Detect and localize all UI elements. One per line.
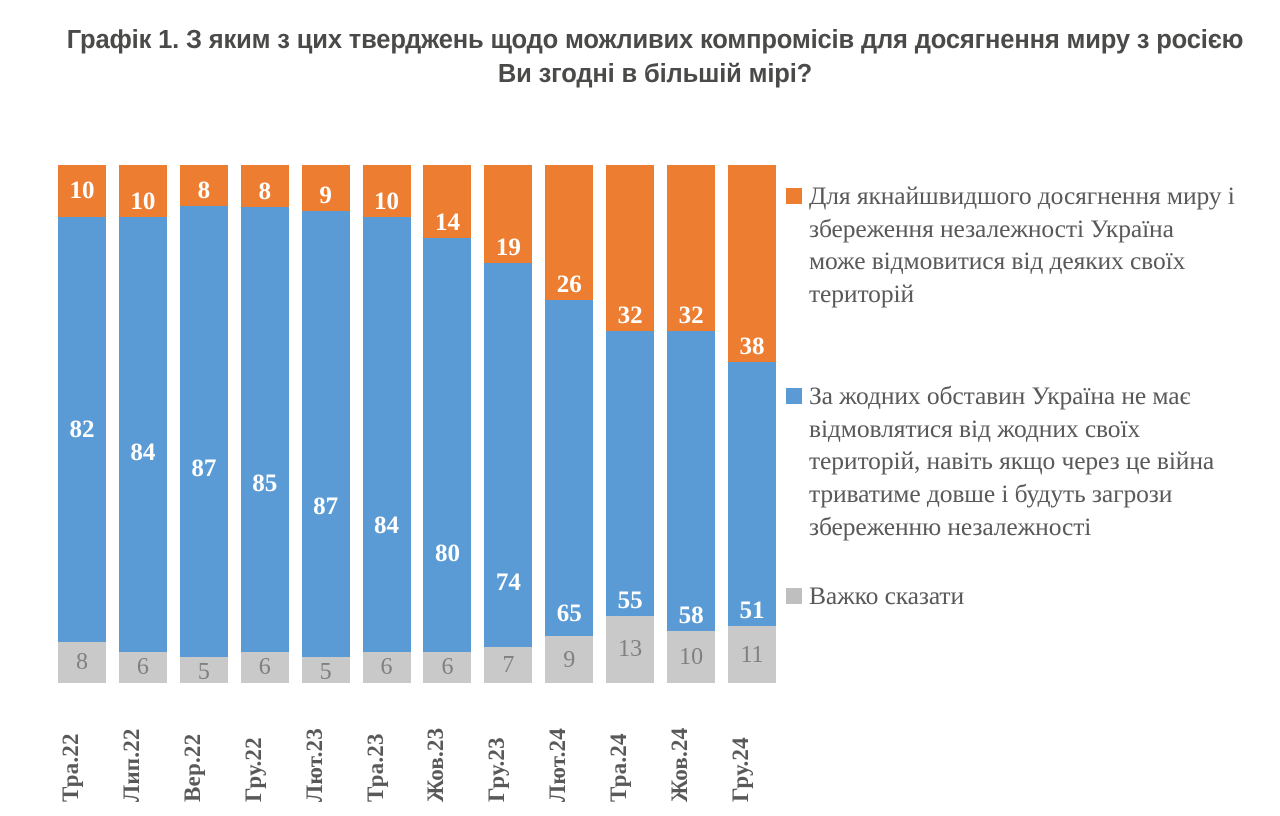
bar-segment-value: 82 — [58, 417, 106, 442]
bar-segment-grey[interactable]: 7 — [484, 647, 532, 683]
bar-segment-blue[interactable]: 87 — [302, 211, 350, 657]
bar-segment-value: 8 — [58, 650, 106, 674]
bar-segment-value: 74 — [484, 570, 532, 595]
bar-segment-grey[interactable]: 6 — [119, 652, 167, 683]
bar-segment-value: 51 — [728, 598, 776, 623]
x-axis-label: Тра.22 — [58, 692, 106, 802]
bar-segment-orange[interactable]: 19 — [484, 165, 532, 263]
bar-segment-orange[interactable]: 32 — [667, 165, 715, 331]
legend-item-blue[interactable]: За жодних обставин Україна не має відмов… — [786, 380, 1236, 543]
legend-item-orange[interactable]: Для якнайшвидшого досягнення миру і збер… — [786, 180, 1236, 311]
bar-column[interactable]: 10846 — [119, 165, 167, 683]
bar-segment-orange[interactable]: 9 — [302, 165, 350, 211]
bar-segment-value: 84 — [119, 440, 167, 465]
bar-segment-value: 13 — [606, 637, 654, 661]
bar-segment-orange[interactable]: 10 — [363, 165, 411, 217]
bar-segment-value: 80 — [423, 541, 471, 566]
bar-segment-grey[interactable]: 13 — [606, 616, 654, 683]
bar-segment-value: 8 — [180, 178, 228, 203]
bar-segment-value: 6 — [363, 655, 411, 679]
bar-segment-orange[interactable]: 38 — [728, 165, 776, 362]
bar-segment-grey[interactable]: 5 — [302, 657, 350, 683]
bar-segment-value: 38 — [728, 334, 776, 359]
x-axis-label: Вер.22 — [180, 692, 228, 802]
x-axis-label: Гру.24 — [728, 692, 776, 802]
bar-segment-orange[interactable]: 32 — [606, 165, 654, 331]
bar-segment-value: 6 — [119, 655, 167, 679]
bar-segment-grey[interactable]: 10 — [667, 631, 715, 683]
bar-segment-blue[interactable]: 87 — [180, 206, 228, 657]
bar-segment-blue[interactable]: 58 — [667, 331, 715, 631]
bar-column[interactable]: 385111 — [728, 165, 776, 683]
bar-column[interactable]: 9875 — [302, 165, 350, 683]
bar-segment-value: 32 — [667, 303, 715, 328]
bar-column[interactable]: 325513 — [606, 165, 654, 683]
bar-column[interactable]: 10846 — [363, 165, 411, 683]
bar-segment-blue[interactable]: 84 — [363, 217, 411, 652]
bar-segment-value: 10 — [363, 189, 411, 214]
bar-segment-blue[interactable]: 82 — [58, 217, 106, 642]
bar-segment-blue[interactable]: 74 — [484, 263, 532, 646]
x-axis-label: Лют.24 — [545, 692, 593, 802]
bar-segment-value: 84 — [363, 513, 411, 538]
x-axis-label: Лют.23 — [302, 692, 350, 802]
bar-segment-value: 87 — [302, 494, 350, 519]
bar-segment-value: 65 — [545, 601, 593, 626]
bar-segment-value: 5 — [180, 660, 228, 684]
bar-segment-value: 8 — [241, 179, 289, 204]
bar-segment-orange[interactable]: 8 — [180, 165, 228, 206]
x-axis-label: Гру.22 — [241, 692, 289, 802]
bar-segment-grey[interactable]: 6 — [423, 652, 471, 683]
x-axis-label: Жов.23 — [423, 692, 471, 802]
bar-segment-value: 11 — [728, 643, 776, 667]
bar-segment-value: 32 — [606, 303, 654, 328]
bar-segment-orange[interactable]: 14 — [423, 165, 471, 238]
bar-segment-blue[interactable]: 84 — [119, 217, 167, 652]
bar-segment-value: 6 — [241, 655, 289, 679]
bar-segment-value: 14 — [423, 210, 471, 235]
x-axis-label: Тра.24 — [606, 692, 654, 802]
legend-label-orange: Для якнайшвидшого досягнення миру і збер… — [809, 180, 1236, 311]
legend-label-blue: За жодних обставин Україна не має відмов… — [809, 380, 1236, 543]
bar-segment-blue[interactable]: 51 — [728, 362, 776, 626]
x-axis-label: Гру.23 — [484, 692, 532, 802]
bar-column[interactable]: 8875 — [180, 165, 228, 683]
bar-column[interactable]: 19747 — [484, 165, 532, 683]
bar-segment-blue[interactable]: 80 — [423, 238, 471, 652]
bar-segment-grey[interactable]: 5 — [180, 657, 228, 683]
bar-segment-grey[interactable]: 6 — [363, 652, 411, 683]
legend-swatch-grey-icon — [786, 588, 802, 604]
bar-column[interactable]: 14806 — [423, 165, 471, 683]
bar-segment-value: 10 — [667, 645, 715, 669]
plot-area: 1082810846887588569875108461480619747266… — [58, 165, 776, 683]
bar-segment-value: 85 — [241, 471, 289, 496]
bar-segment-blue[interactable]: 55 — [606, 331, 654, 616]
bar-segment-orange[interactable]: 8 — [241, 165, 289, 207]
legend-item-grey[interactable]: Важко сказати — [786, 580, 1216, 613]
bar-column[interactable]: 325810 — [667, 165, 715, 683]
bar-segment-blue[interactable]: 65 — [545, 300, 593, 637]
bar-segment-value: 19 — [484, 235, 532, 260]
bar-segment-value: 7 — [484, 653, 532, 677]
bar-segment-value: 58 — [667, 603, 715, 628]
bar-segment-value: 10 — [58, 178, 106, 203]
chart-title: Графік 1. З яким з цих тверджень щодо мо… — [60, 24, 1250, 91]
legend-label-grey: Важко сказати — [809, 580, 1216, 613]
bar-segment-value: 5 — [302, 660, 350, 684]
bar-segment-grey[interactable]: 9 — [545, 636, 593, 683]
bar-column[interactable]: 26659 — [545, 165, 593, 683]
legend-swatch-orange-icon — [786, 188, 802, 204]
bar-segment-orange[interactable]: 10 — [58, 165, 106, 217]
legend-swatch-blue-icon — [786, 388, 802, 404]
bar-segment-blue[interactable]: 85 — [241, 207, 289, 652]
x-axis-label: Жов.24 — [667, 692, 715, 802]
chart-container: Графік 1. З яким з цих тверджень щодо мо… — [0, 0, 1280, 816]
bar-segment-value: 55 — [606, 588, 654, 613]
bar-segment-grey[interactable]: 11 — [728, 626, 776, 683]
bar-segment-grey[interactable]: 6 — [241, 652, 289, 683]
bar-segment-orange[interactable]: 26 — [545, 165, 593, 300]
x-axis-label: Тра.23 — [363, 692, 411, 802]
x-axis-label: Лип.22 — [119, 692, 167, 802]
bar-segment-grey[interactable]: 8 — [58, 642, 106, 683]
bar-column[interactable]: 10828 — [58, 165, 106, 683]
bar-segment-orange[interactable]: 10 — [119, 165, 167, 217]
bar-segment-value: 10 — [119, 189, 167, 214]
bar-column[interactable]: 8856 — [241, 165, 289, 683]
bar-segment-value: 26 — [545, 272, 593, 297]
bar-segment-value: 6 — [423, 655, 471, 679]
bar-segment-value: 9 — [545, 648, 593, 672]
bar-segment-value: 9 — [302, 183, 350, 208]
bar-segment-value: 87 — [180, 456, 228, 481]
